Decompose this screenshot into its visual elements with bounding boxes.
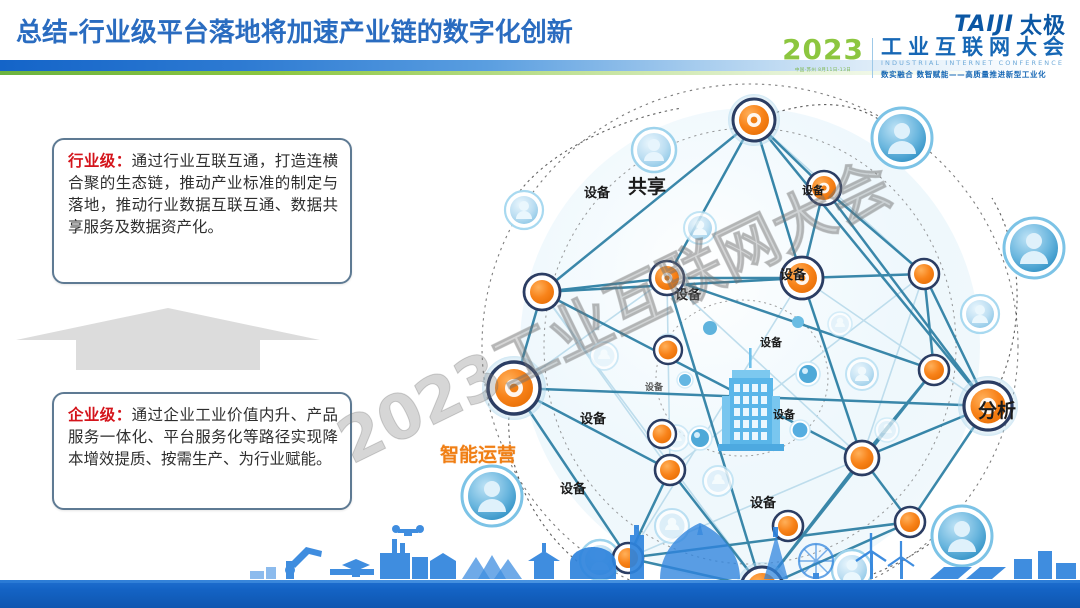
person-node[interactable] [684,212,716,244]
diagram-label-analysis: 分析 [978,396,1016,423]
orange-node[interactable] [654,336,682,364]
orange-node[interactable] [524,274,560,310]
logo-divider [872,38,873,78]
diagram-label-device-12: 设备 [750,492,776,511]
orange-node[interactable] [909,259,939,289]
device-dot[interactable] [790,420,810,440]
orange-node[interactable] [919,355,949,385]
device-dot[interactable] [677,372,693,388]
person-node[interactable] [462,466,522,526]
upward-arrow-shape [8,306,328,372]
taiji-logo-en: TAIJI [954,12,1014,37]
person-node[interactable] [1004,218,1064,278]
conference-year-block: 2023 中国·苏州 8月11日-13日 [782,36,872,73]
network-diagram-svg [432,78,1080,598]
device-dot[interactable] [796,362,820,386]
device-dot[interactable] [792,316,804,328]
city-skyline-graphic [0,521,1080,583]
diagram-label-device-9: 设备 [645,380,663,393]
person-node[interactable] [961,295,999,333]
orange-node[interactable] [648,420,676,448]
footer-band [0,580,1080,608]
callout-enterprise-text: 企业级：通过企业工业价值内升、产品服务一体化、平台服务化等路径实现降本增效提质、… [68,404,338,470]
callout-industry-level: 行业级：通过行业互联互通，打造连横合聚的生态链，推动产业标准的制定与落地，推动行… [52,138,352,284]
conference-year-sub: 中国·苏州 8月11日-13日 [795,67,851,73]
conference-name-en: INDUSTRIAL INTERNET CONFERENCE [881,59,1070,67]
conference-year: 2023 [782,36,864,64]
diagram-label-device-10: 设备 [580,408,606,427]
diagram-label-share: 共享 [628,172,666,199]
page-title: 总结-行业级平台落地将加速产业链的数字化创新 [16,12,573,49]
device-dot[interactable] [688,426,712,450]
person-node[interactable] [846,358,878,390]
person-node[interactable] [875,418,899,442]
diagram-label-device-6: 设备 [675,284,701,303]
conference-name-block: 工业互联网大会 INDUSTRIAL INTERNET CONFERENCE 数… [881,36,1070,80]
diagram-label-device-11: 设备 [560,478,586,497]
device-dot[interactable] [703,321,717,335]
callout-enterprise-lead: 企业级： [68,406,132,424]
hub-node[interactable] [728,94,780,146]
conference-name-cn: 工业互联网大会 [881,36,1070,58]
orange-node[interactable] [845,441,879,475]
callout-enterprise-level: 企业级：通过企业工业价值内升、产品服务一体化、平台服务化等路径实现降本增效提质、… [52,392,352,510]
diagram-label-device-7: 设备 [760,334,782,350]
callout-industry-text: 行业级：通过行业互联互通，打造连横合聚的生态链，推动产业标准的制定与落地，推动行… [68,150,338,238]
network-diagram: 共享分析智能运营设备设备设备设备设备设备设备设备设备设备设备 [432,78,1080,598]
person-node[interactable] [828,312,852,336]
diagram-label-intelligent-operation: 智能运营 [440,440,516,467]
conference-logo: 2023 中国·苏州 8月11日-13日 工业互联网大会 INDUSTRIAL … [782,36,1070,80]
orange-node[interactable] [655,455,685,485]
person-node[interactable] [872,108,932,168]
person-node[interactable] [505,191,543,229]
diagram-label-device-4: 设备 [802,182,824,198]
diagram-label-device-3: 设备 [584,182,610,201]
diagram-label-device-8: 设备 [773,406,795,422]
diagram-label-device-5: 设备 [780,264,806,283]
hub-node[interactable] [482,356,546,420]
callout-industry-lead: 行业级： [68,152,132,170]
person-node[interactable] [632,128,676,172]
person-node[interactable] [590,342,618,370]
person-node[interactable] [703,466,733,496]
